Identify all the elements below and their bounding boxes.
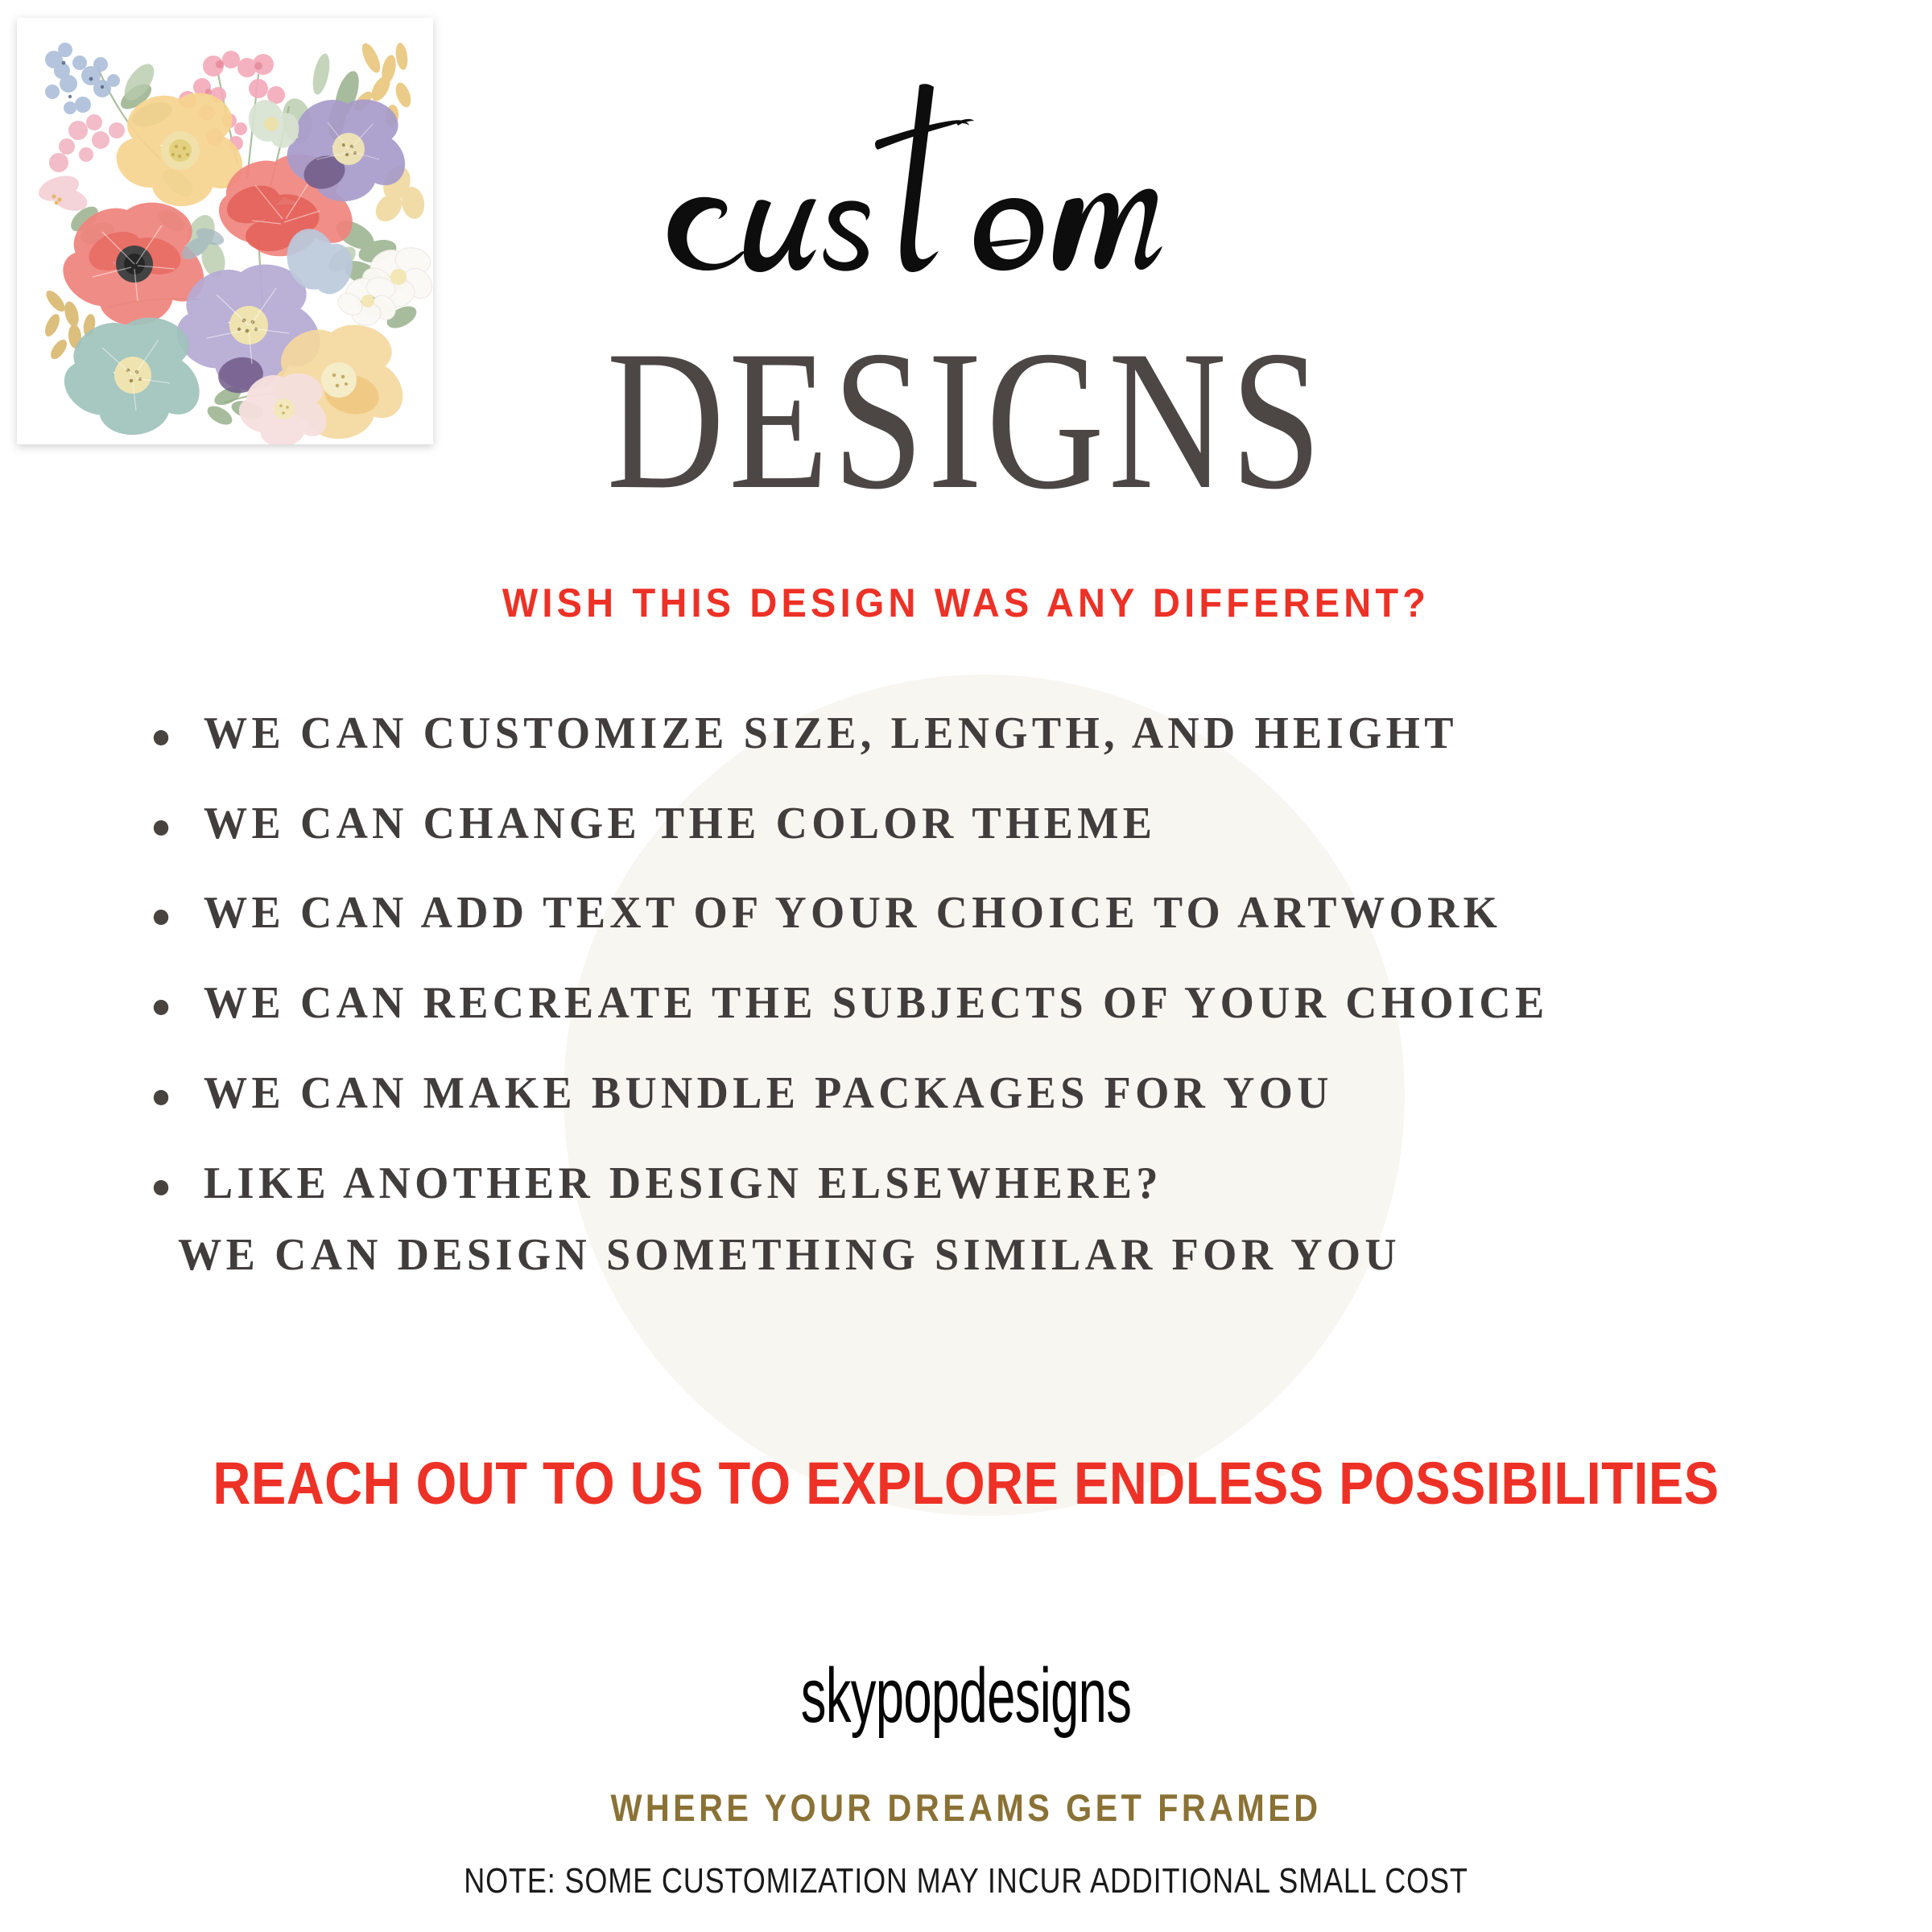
- list-item: WE CAN RECREATE THE SUBJECTS OF YOUR CHO…: [149, 978, 1804, 1029]
- custom-script-text: custom: [636, 298, 637, 299]
- bullet-dot-icon: [154, 1090, 168, 1105]
- feature-list: WE CAN CUSTOMIZE SIZE, LENGTH, AND HEIGH…: [149, 708, 1856, 1281]
- list-item: LIKE ANOTHER DESIGN ELSEWHERE?: [149, 1158, 1804, 1209]
- custom-brush-lettering: [636, 56, 1328, 298]
- list-item: WE CAN CUSTOMIZE SIZE, LENGTH, AND HEIGH…: [149, 708, 1804, 759]
- call-to-action-text: REACH OUT TO US TO EXPLORE ENDLESS POSSI…: [116, 1449, 1816, 1517]
- list-item: WE CAN MAKE BUNDLE PACKAGES FOR YOU: [149, 1068, 1804, 1119]
- list-item: WE CAN ADD TEXT OF YOUR CHOICE TO ARTWOR…: [149, 888, 1804, 939]
- floral-artwork-thumbnail[interactable]: watercolor floral bouquet artwork previe…: [17, 18, 433, 444]
- bullet-dot-icon: [154, 730, 168, 745]
- bullet-dot-icon: [154, 1180, 168, 1195]
- brand-logo-text: skypopdesigns: [328, 1652, 1604, 1740]
- subtitle-question: WISH THIS DESIGN WAS ANY DIFFERENT?: [58, 580, 1874, 626]
- footer-note: NOTE: SOME CUSTOMIZATION MAY INCUR ADDIT…: [174, 1861, 1758, 1901]
- list-item: WE CAN CHANGE THE COLOR THEME: [149, 799, 1804, 849]
- custom-script-wordmark: custom: [636, 56, 1328, 298]
- list-item-label: WE CAN ADD TEXT OF YOUR CHOICE TO ARTWOR…: [204, 888, 1501, 938]
- list-item-label: WE CAN MAKE BUNDLE PACKAGES FOR YOU: [204, 1068, 1333, 1118]
- list-item-label: WE CAN RECREATE THE SUBJECTS OF YOUR CHO…: [204, 978, 1549, 1028]
- bullet-dot-icon: [154, 1000, 168, 1015]
- list-item-continuation: WE CAN DESIGN SOMETHING SIMILAR FOR YOU: [178, 1230, 1805, 1281]
- list-item-label: WE CAN CHANGE THE COLOR THEME: [204, 799, 1156, 848]
- list-item-label: WE CAN CUSTOMIZE SIZE, LENGTH, AND HEIGH…: [204, 708, 1458, 758]
- brand-tagline: WHERE YOUR DREAMS GET FRAMED: [116, 1785, 1816, 1830]
- bullet-dot-icon: [154, 910, 168, 925]
- floral-bouquet-illustration: [17, 18, 433, 444]
- bullet-dot-icon: [154, 820, 168, 836]
- list-item-label: LIKE ANOTHER DESIGN ELSEWHERE?: [204, 1158, 1162, 1208]
